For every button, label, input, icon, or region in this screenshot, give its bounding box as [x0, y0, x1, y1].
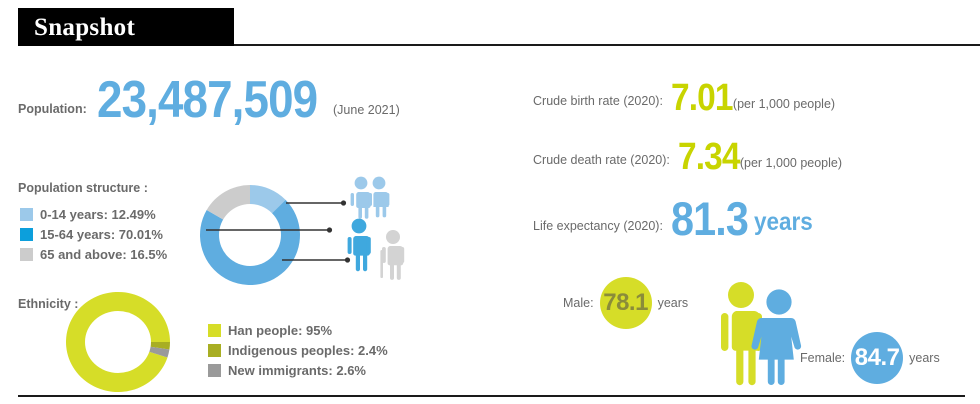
legend-label-new-immigrants: New immigrants: 2.6% [228, 363, 366, 378]
page-title: Snapshot [34, 15, 135, 40]
female-unit: years [909, 351, 940, 365]
population-structure-legend: 0-14 years: 12.49% 15-64 years: 70.01% 6… [20, 205, 167, 265]
male-life-expectancy-block: Male: 78.1 years [563, 277, 688, 329]
crude-death-rate-block: Crude death rate (2020): 7.34 (per 1,000… [533, 141, 842, 173]
crude-birth-rate-block: Crude birth rate (2020): 7.01 (per 1,000… [533, 82, 835, 114]
female-figure-icon [752, 289, 802, 385]
population-label: Population: [18, 102, 87, 122]
leader-dot-adult [327, 227, 332, 232]
population-structure-title: Population structure : [18, 181, 148, 195]
legend-swatch-65-above [20, 248, 33, 261]
male-unit: years [658, 296, 689, 310]
legend-swatch-0-14 [20, 208, 33, 221]
adult-icon [348, 219, 371, 272]
female-label: Female: [800, 351, 845, 365]
life-expectancy-unit: years [754, 208, 813, 239]
crude-birth-rate-value: 7.01 [671, 82, 733, 114]
legend-swatch-new-immigrants [208, 364, 221, 377]
legend-swatch-han [208, 324, 221, 337]
crude-death-rate-value: 7.34 [678, 141, 740, 173]
legend-label-indigenous: Indigenous peoples: 2.4% [228, 343, 388, 358]
legend-label-65-above: 65 and above: 16.5% [40, 247, 167, 262]
population-block: Population: 23,487,509 (June 2021) [18, 78, 400, 122]
elderly-icon [380, 230, 404, 280]
population-structure-pictograms [345, 174, 419, 282]
header-divider [234, 44, 980, 46]
legend-swatch-15-64 [20, 228, 33, 241]
life-expectancy-block: Life expectancy (2020): 81.3 years [533, 199, 820, 239]
legend-item: 15-64 years: 70.01% [20, 225, 167, 243]
crude-death-rate-label: Crude death rate (2020): [533, 153, 670, 173]
footer-divider [18, 395, 965, 397]
header-band: Snapshot [18, 8, 234, 46]
legend-item: Indigenous peoples: 2.4% [208, 341, 388, 359]
male-label: Male: [563, 296, 594, 310]
legend-swatch-indigenous [208, 344, 221, 357]
population-value: 23,487,509 [97, 78, 317, 122]
life-expectancy-value: 81.3 [671, 199, 748, 239]
legend-item: 0-14 years: 12.49% [20, 205, 167, 223]
snapshot-infographic: Snapshot Population: 23,487,509 (June 20… [0, 0, 980, 404]
crude-birth-rate-label: Crude birth rate (2020): [533, 94, 663, 114]
legend-item: 65 and above: 16.5% [20, 245, 167, 263]
crude-death-rate-note: (per 1,000 people) [740, 156, 842, 173]
ethnicity-legend: Han people: 95% Indigenous peoples: 2.4%… [208, 321, 388, 381]
legend-item: Han people: 95% [208, 321, 388, 339]
population-date-note: (June 2021) [333, 103, 400, 122]
female-value-badge: 84.7 [851, 332, 903, 384]
legend-label-15-64: 15-64 years: 70.01% [40, 227, 163, 242]
female-life-expectancy-block: Female: 84.7 years [800, 332, 940, 384]
children-icon [351, 177, 390, 219]
ethnicity-donut-chart [62, 288, 174, 396]
eth-donut-hole [85, 311, 151, 373]
crude-birth-rate-note: (per 1,000 people) [733, 97, 835, 114]
male-value-badge: 78.1 [600, 277, 652, 329]
life-expectancy-label: Life expectancy (2020): [533, 219, 663, 239]
legend-label-0-14: 0-14 years: 12.49% [40, 207, 156, 222]
legend-item: New immigrants: 2.6% [208, 361, 388, 379]
legend-label-han: Han people: 95% [228, 323, 332, 338]
